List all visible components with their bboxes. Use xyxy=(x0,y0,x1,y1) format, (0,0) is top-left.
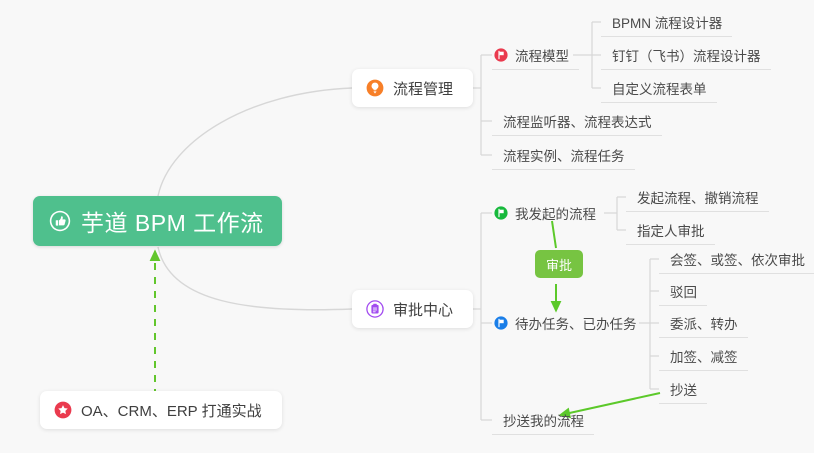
node-process-model[interactable]: 流程模型 xyxy=(492,40,579,70)
node-cc[interactable]: 抄送 xyxy=(659,374,707,404)
node-label: 驳回 xyxy=(670,281,697,301)
node-label: 抄送 xyxy=(670,379,697,399)
star-icon xyxy=(54,401,72,419)
node-label: 委派、转办 xyxy=(670,313,738,333)
clipboard-icon xyxy=(366,300,384,318)
branch-approval-center[interactable]: 审批中心 xyxy=(352,290,473,328)
node-label: 加签、减签 xyxy=(670,346,738,366)
branch-process-management[interactable]: 流程管理 xyxy=(352,69,473,107)
flag-icon xyxy=(494,48,508,62)
branch-label: 审批中心 xyxy=(393,299,453,320)
node-dingtalk-designer[interactable]: 钉钉（飞书）流程设计器 xyxy=(601,40,771,70)
node-label: 钉钉（飞书）流程设计器 xyxy=(612,45,761,65)
node-countersign[interactable]: 会签、或签、依次审批 xyxy=(659,244,814,274)
root-label: 芋道 BPM 工作流 xyxy=(81,204,264,238)
flag-icon xyxy=(494,316,508,330)
callout-label: OA、CRM、ERP 打通实战 xyxy=(81,400,262,421)
tag-approval[interactable]: 审批 xyxy=(535,250,583,278)
node-label: 发起流程、撤销流程 xyxy=(637,187,759,207)
node-label: 流程模型 xyxy=(515,45,569,65)
node-reject[interactable]: 驳回 xyxy=(659,276,707,306)
node-my-started-process[interactable]: 我发起的流程 xyxy=(492,198,606,228)
lightbulb-icon xyxy=(366,79,384,97)
node-label: 我发起的流程 xyxy=(515,203,596,223)
mindmap-canvas[interactable]: 芋道 BPM 工作流 流程管理 流程模型 BPMN 流程设计器 钉钉（飞书）流程 xyxy=(0,0,814,453)
flag-icon xyxy=(494,206,508,220)
tag-label: 审批 xyxy=(546,255,572,274)
node-label: 流程监听器、流程表达式 xyxy=(503,111,652,131)
node-label: BPMN 流程设计器 xyxy=(612,12,722,32)
node-label: 待办任务、已办任务 xyxy=(515,313,637,333)
node-todo-done-tasks[interactable]: 待办任务、已办任务 xyxy=(492,308,647,338)
node-delegate-transfer[interactable]: 委派、转办 xyxy=(659,308,748,338)
node-label: 流程实例、流程任务 xyxy=(503,145,625,165)
thumbs-up-icon xyxy=(49,210,71,232)
node-label: 自定义流程表单 xyxy=(612,78,707,98)
node-cc-to-me[interactable]: 抄送我的流程 xyxy=(492,405,594,435)
branch-label: 流程管理 xyxy=(393,78,453,99)
node-bpmn-designer[interactable]: BPMN 流程设计器 xyxy=(601,7,732,37)
node-process-instance[interactable]: 流程实例、流程任务 xyxy=(492,140,635,170)
node-label: 会签、或签、依次审批 xyxy=(670,249,805,269)
node-assignee-approval[interactable]: 指定人审批 xyxy=(626,215,715,245)
callout-integration[interactable]: OA、CRM、ERP 打通实战 xyxy=(40,391,282,429)
node-process-listener[interactable]: 流程监听器、流程表达式 xyxy=(492,106,662,136)
node-add-remove-sign[interactable]: 加签、减签 xyxy=(659,341,748,371)
node-start-cancel-process[interactable]: 发起流程、撤销流程 xyxy=(626,182,769,212)
root-node[interactable]: 芋道 BPM 工作流 xyxy=(33,196,282,246)
node-custom-form[interactable]: 自定义流程表单 xyxy=(601,73,717,103)
node-label: 抄送我的流程 xyxy=(503,410,584,430)
node-label: 指定人审批 xyxy=(637,220,705,240)
